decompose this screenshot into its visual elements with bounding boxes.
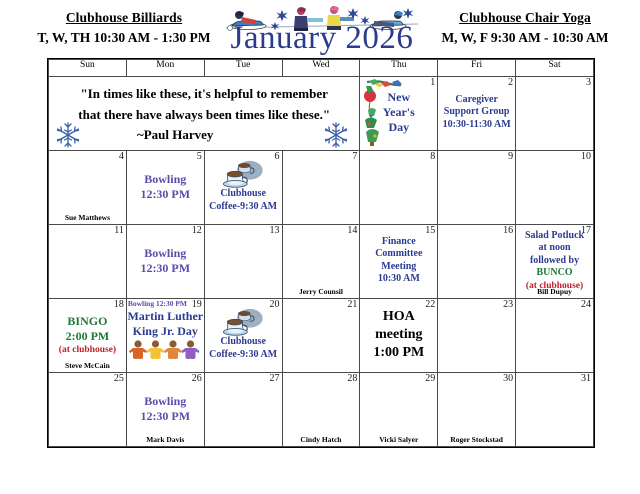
event-line: Meeting	[381, 261, 416, 274]
weekday-sat: Sat	[516, 60, 594, 77]
event-line: Martin Luther	[127, 309, 203, 324]
day-cell-7[interactable]: 7	[282, 151, 360, 225]
day-cell-20[interactable]: 20ClubhouseCoffee-9:30 AM	[204, 299, 282, 373]
day-cell-26[interactable]: 26Bowling12:30 PMMark Davis	[126, 373, 204, 447]
event-line: meeting	[375, 326, 422, 344]
day-events: Martin LutherKing Jr. Day	[127, 308, 204, 361]
day-cell-4[interactable]: 4Sue Matthews	[49, 151, 127, 225]
day-cell-23[interactable]: 23	[438, 299, 516, 373]
event-line: (at clubhouse)	[59, 344, 116, 356]
event-line: Finance	[382, 236, 416, 249]
day-events	[49, 382, 126, 435]
day-events	[283, 382, 360, 435]
day-cell-5[interactable]: 5Bowling12:30 PM	[126, 151, 204, 225]
event-line: King Jr. Day	[133, 324, 198, 339]
event-line: Salad Potluck	[525, 230, 584, 243]
quote-line-2: that there have always been times like t…	[55, 104, 353, 125]
day-cell-2[interactable]: 2CaregiverSupport Group10:30-11:30 AM	[438, 77, 516, 151]
event-line: HOA	[383, 308, 415, 326]
day-cell-19[interactable]: 19Bowling 12:30 PMMartin LutherKing Jr. …	[126, 299, 204, 373]
day-cell-14[interactable]: 14Jerry Counsil	[282, 225, 360, 299]
birthday-name: Vicki Salyer	[360, 435, 437, 444]
event-line: BINGO	[67, 314, 107, 329]
day-cell-27[interactable]: 27	[204, 373, 282, 447]
weekday-mon: Mon	[126, 60, 204, 77]
day-events	[438, 160, 515, 213]
birthday-name: Bill Dupuy	[516, 287, 593, 296]
day-events: CaregiverSupport Group10:30-11:30 AM	[438, 86, 515, 139]
calendar-week-row: "In times like these, it's helpful to re…	[49, 77, 594, 151]
weekday-fri: Fri	[438, 60, 516, 77]
coffee-cups-icon	[217, 308, 269, 337]
event-line: Bowling	[144, 394, 186, 409]
birthday-name: Steve McCain	[49, 361, 126, 370]
billiards-header: Clubhouse Billiards T, W, TH 10:30 AM - …	[0, 10, 248, 46]
yoga-schedule: M, W, F 9:30 AM - 10:30 AM	[410, 30, 640, 46]
calendar-body: "In times like these, it's helpful to re…	[49, 77, 594, 447]
day-cell-25[interactable]: 25	[49, 373, 127, 447]
month-title: January 2026	[222, 22, 422, 55]
quote-cell: "In times like these, it's helpful to re…	[49, 77, 360, 151]
event-line: 10:30-11:30 AM	[443, 119, 511, 132]
event-line: Bowling	[144, 246, 186, 261]
day-cell-1[interactable]: 1NewYear'sDay	[360, 77, 438, 151]
day-cell-30[interactable]: 30Roger Stockstad	[438, 373, 516, 447]
day-cell-21[interactable]: 21	[282, 299, 360, 373]
yoga-title: Clubhouse Chair Yoga	[410, 10, 640, 26]
day-events	[283, 308, 360, 361]
day-top-note: Bowling 12:30 PM	[128, 299, 187, 308]
event-line: 12:30 PM	[140, 409, 190, 424]
event-line: Support Group	[444, 106, 510, 119]
day-events	[516, 308, 593, 361]
coffee-cups-icon	[217, 160, 269, 189]
billiards-title: Clubhouse Billiards	[0, 10, 248, 26]
event-line: 12:30 PM	[140, 187, 190, 202]
day-cell-31[interactable]: 31	[516, 373, 594, 447]
event-line: BUNCO	[536, 267, 572, 280]
day-cell-24[interactable]: 24	[516, 299, 594, 373]
day-events	[49, 160, 126, 213]
birthday-name: Cindy Hatch	[283, 435, 360, 444]
weekday-tue: Tue	[204, 60, 282, 77]
event-line: New	[387, 90, 410, 105]
snowflake-icon	[55, 122, 81, 148]
day-events	[438, 382, 515, 435]
day-cell-13[interactable]: 13	[204, 225, 282, 299]
calendar-banner: Clubhouse Billiards T, W, TH 10:30 AM - …	[0, 0, 640, 58]
day-events: ClubhouseCoffee-9:30 AM	[205, 160, 282, 213]
event-line: Clubhouse	[220, 336, 266, 349]
month-header: January 2026	[222, 0, 422, 58]
birthday-name: Sue Matthews	[49, 213, 126, 222]
quote-line-1: "In times like these, it's helpful to re…	[55, 83, 353, 104]
day-events	[360, 160, 437, 213]
day-events	[49, 234, 126, 287]
event-line: Caregiver	[455, 94, 498, 107]
day-cell-16[interactable]: 16	[438, 225, 516, 299]
day-events: FinanceCommitteeMeeting10:30 AM	[360, 234, 437, 287]
calendar-week-row: 1112Bowling12:30 PM1314Jerry Counsil15Fi…	[49, 225, 594, 299]
calendar-week-row: 2526Bowling12:30 PMMark Davis2728Cindy H…	[49, 373, 594, 447]
yoga-header: Clubhouse Chair Yoga M, W, F 9:30 AM - 1…	[410, 10, 640, 46]
day-cell-6[interactable]: 6ClubhouseCoffee-9:30 AM	[204, 151, 282, 225]
day-cell-28[interactable]: 28Cindy Hatch	[282, 373, 360, 447]
weekday-header-row: Sun Mon Tue Wed Thu Fri Sat	[49, 60, 594, 77]
event-line: Clubhouse	[220, 188, 266, 201]
day-cell-15[interactable]: 15FinanceCommitteeMeeting10:30 AM	[360, 225, 438, 299]
day-cell-18[interactable]: 18BINGO2:00 PM(at clubhouse)Steve McCain	[49, 299, 127, 373]
day-events: Bowling12:30 PM	[127, 160, 204, 213]
day-cell-29[interactable]: 29Vicki Salyer	[360, 373, 438, 447]
weekday-sun: Sun	[49, 60, 127, 77]
calendar-page: Clubhouse Billiards T, W, TH 10:30 AM - …	[0, 0, 640, 494]
day-events: HOAmeeting1:00 PM	[360, 308, 437, 361]
day-events: ClubhouseCoffee-9:30 AM	[205, 308, 282, 361]
day-events	[283, 234, 360, 287]
day-cell-9[interactable]: 9	[438, 151, 516, 225]
weekday-thu: Thu	[360, 60, 438, 77]
birthday-name: Jerry Counsil	[283, 287, 360, 296]
day-events	[205, 382, 282, 435]
day-cell-10[interactable]: 10	[516, 151, 594, 225]
day-events	[205, 234, 282, 287]
day-cell-22[interactable]: 22HOAmeeting1:00 PM	[360, 299, 438, 373]
snowflake-icon	[323, 122, 349, 148]
event-line: Committee	[375, 248, 422, 261]
day-events	[360, 382, 437, 435]
quote-attribution: ~Paul Harvey	[55, 125, 353, 145]
event-line: Day	[388, 120, 409, 135]
day-events	[516, 382, 593, 435]
calendar-grid: Sun Mon Tue Wed Thu Fri Sat "In times li…	[47, 58, 595, 448]
day-cell-3[interactable]: 3	[516, 77, 594, 151]
day-events	[438, 308, 515, 361]
calendar-week-row: 4Sue Matthews5Bowling12:30 PM6ClubhouseC…	[49, 151, 594, 225]
day-events: Bowling12:30 PM	[127, 234, 204, 287]
event-line: Coffee-9:30 AM	[209, 349, 277, 362]
calendar-week-row: 18BINGO2:00 PM(at clubhouse)Steve McCain…	[49, 299, 594, 373]
billiards-schedule: T, W, TH 10:30 AM - 1:30 PM	[0, 30, 248, 46]
event-line: 1:00 PM	[373, 344, 424, 362]
day-events: BINGO2:00 PM(at clubhouse)	[49, 308, 126, 361]
event-line: followed by	[530, 255, 579, 268]
event-line: 2:00 PM	[66, 329, 110, 344]
event-line: Year's	[383, 105, 415, 120]
event-line: 12:30 PM	[140, 261, 190, 276]
paper-dolls-icon	[129, 340, 201, 360]
day-events	[283, 160, 360, 213]
day-cell-11[interactable]: 11	[49, 225, 127, 299]
weekday-wed: Wed	[282, 60, 360, 77]
day-events	[516, 86, 593, 139]
event-line: at noon	[539, 242, 571, 255]
day-cell-12[interactable]: 12Bowling12:30 PM	[126, 225, 204, 299]
event-line: Bowling	[144, 172, 186, 187]
day-events: Bowling12:30 PM	[127, 382, 204, 435]
day-events	[438, 234, 515, 287]
day-cell-17[interactable]: 17Salad Potluckat noonfollowed byBUNCO(a…	[516, 225, 594, 299]
day-cell-8[interactable]: 8	[360, 151, 438, 225]
day-events	[516, 160, 593, 213]
day-events: NewYear'sDay	[360, 86, 437, 139]
birthday-name: Mark Davis	[127, 435, 204, 444]
event-line: 10:30 AM	[378, 273, 420, 286]
day-events: Salad Potluckat noonfollowed byBUNCO(at …	[516, 234, 593, 287]
event-line: Coffee-9:30 AM	[209, 201, 277, 214]
birthday-name: Roger Stockstad	[438, 435, 515, 444]
